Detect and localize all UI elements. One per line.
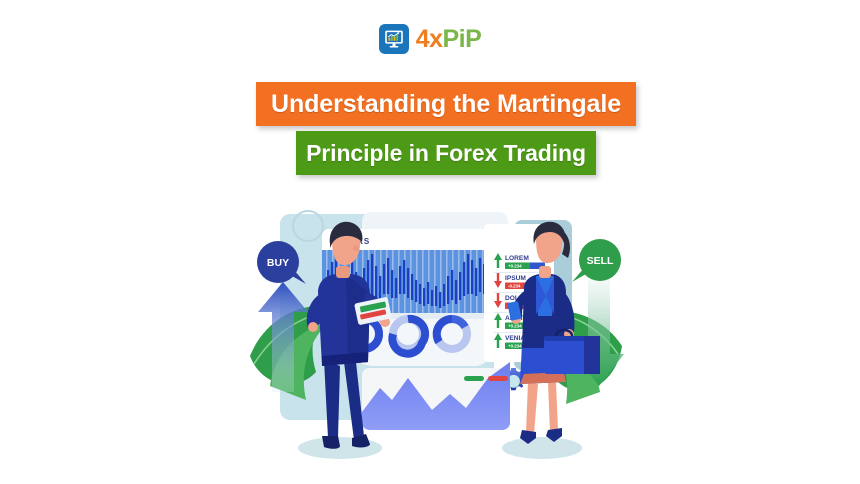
sell-badge-label: SELL [587, 255, 614, 267]
watchlist-value: +0.234 [508, 324, 522, 329]
title-line1-text: Understanding the Martingale [271, 90, 621, 119]
buy-badge-label: BUY [267, 257, 289, 269]
logo-text-4x: 4x [416, 25, 443, 53]
legend-swatch-up [464, 376, 484, 381]
forex-trading-illustration: STOCKS [236, 196, 636, 468]
area-chart-card [362, 362, 510, 430]
title-line2-text: Principle in Forex Trading [306, 140, 586, 167]
watchlist-value: +0.234 [508, 264, 522, 269]
monitor-chart-icon [379, 24, 409, 54]
brand-wordmark: 4xPiP [416, 27, 482, 52]
title-banner-line1: Understanding the Martingale [256, 82, 636, 126]
watchlist-value: -0.234 [508, 284, 521, 289]
logo-text-pip: PiP [443, 25, 482, 53]
legend-swatch-down [488, 376, 508, 381]
page-root: 4xPiP Understanding the Martingale Princ… [0, 0, 860, 484]
watchlist-value: +0.234 [508, 344, 522, 349]
briefcase [544, 330, 600, 374]
brand-logo[interactable]: 4xPiP [0, 24, 860, 54]
watchlist-symbol: IPSUM [505, 275, 526, 282]
sell-badge: SELL [572, 239, 621, 282]
title-banner-line2: Principle in Forex Trading [296, 131, 596, 175]
watchlist-symbol: LOREM [505, 255, 529, 262]
floor-shadow-right [502, 437, 582, 459]
floor-shadow-left [298, 437, 382, 459]
